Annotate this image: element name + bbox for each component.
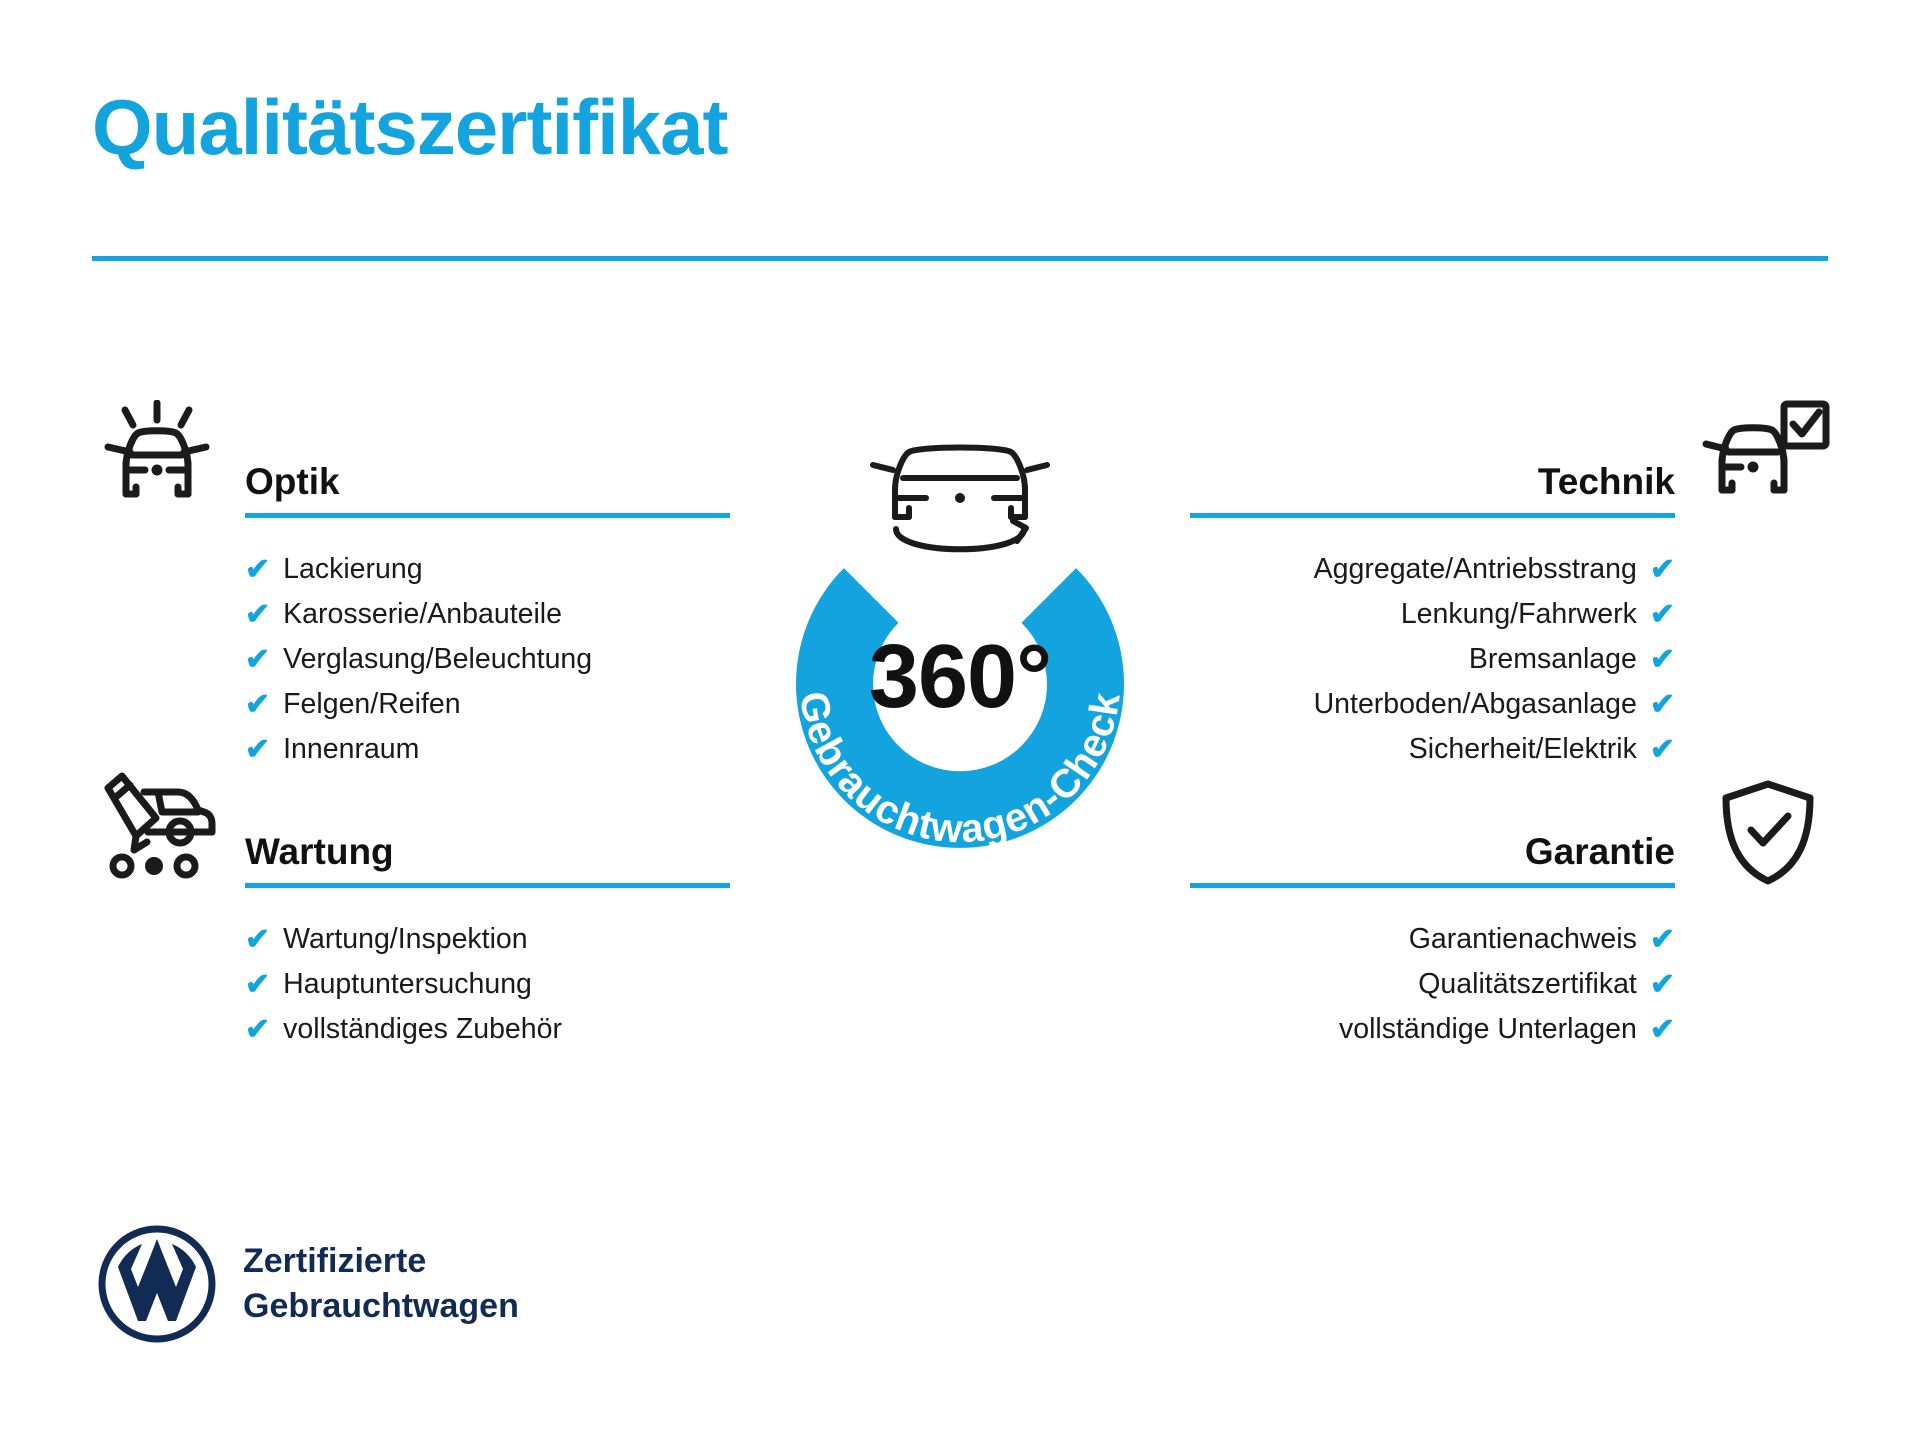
check-icon: ✔ <box>245 1007 270 1052</box>
list-item: ✔Lackierung <box>245 547 730 592</box>
list-item: ✔Innenraum <box>245 727 730 772</box>
list-item: Unterboden/Abgasanlage✔ <box>1190 682 1675 727</box>
check-icon: ✔ <box>245 637 270 682</box>
section-wartung: Wartung ✔Wartung/Inspektion ✔Hauptunters… <box>245 825 730 1052</box>
section-technik-divider <box>1190 513 1675 518</box>
list-item: Bremsanlage✔ <box>1190 637 1675 682</box>
check-icon: ✔ <box>1650 592 1675 637</box>
check-icon: ✔ <box>1650 637 1675 682</box>
check-icon: ✔ <box>1650 1007 1675 1052</box>
footer-line-2: Gebrauchtwagen <box>243 1284 519 1329</box>
footer-text: Zertifizierte Gebrauchtwagen <box>243 1239 519 1329</box>
list-item-label: Karosserie/Anbauteile <box>283 592 562 637</box>
list-item-label: Lenkung/Fahrwerk <box>1401 592 1637 637</box>
list-item-label: Unterboden/Abgasanlage <box>1314 682 1637 727</box>
section-wartung-list: ✔Wartung/Inspektion ✔Hauptuntersuchung ✔… <box>245 917 730 1052</box>
section-technik-title: Technik <box>1190 455 1675 509</box>
section-wartung-header: Wartung <box>245 825 730 895</box>
section-optik-list: ✔Lackierung ✔Karosserie/Anbauteile ✔Verg… <box>245 547 730 772</box>
check-icon: ✔ <box>1650 547 1675 592</box>
check-icon: ✔ <box>245 917 270 962</box>
list-item-label: Bremsanlage <box>1469 637 1637 682</box>
list-item-label: Aggregate/Antriebsstrang <box>1314 547 1637 592</box>
section-optik-divider <box>245 513 730 518</box>
footer: Zertifizierte Gebrauchtwagen <box>98 1225 519 1343</box>
section-wartung-title: Wartung <box>245 825 730 879</box>
section-garantie-header: Garantie <box>1190 825 1675 895</box>
list-item-label: Wartung/Inspektion <box>283 917 528 962</box>
section-technik: Technik Aggregate/Antriebsstrang✔ Lenkun… <box>1190 455 1675 772</box>
list-item-label: vollständige Unterlagen <box>1339 1007 1637 1052</box>
check-icon: ✔ <box>1650 917 1675 962</box>
section-garantie-title: Garantie <box>1190 825 1675 879</box>
vw-roundel-logo <box>98 1225 216 1343</box>
section-optik-title: Optik <box>245 455 730 509</box>
list-item: ✔Wartung/Inspektion <box>245 917 730 962</box>
list-item-label: Lackierung <box>283 547 422 592</box>
car-front-polish-icon <box>92 400 222 510</box>
list-item-label: Garantienachweis <box>1409 917 1637 962</box>
list-item: ✔Karosserie/Anbauteile <box>245 592 730 637</box>
section-technik-header: Technik <box>1190 455 1675 525</box>
section-wartung-divider <box>245 883 730 888</box>
check-icon: ✔ <box>245 592 270 637</box>
list-item-label: Qualitätszertifikat <box>1418 962 1637 1007</box>
check-icon: ✔ <box>245 682 270 727</box>
section-optik-header: Optik <box>245 455 730 525</box>
list-item: Lenkung/Fahrwerk✔ <box>1190 592 1675 637</box>
list-item: ✔vollständiges Zubehör <box>245 1007 730 1052</box>
certificate-page: Qualitätszertifikat <box>0 0 1920 1440</box>
title-divider <box>92 256 1828 261</box>
list-item: Aggregate/Antriebsstrang✔ <box>1190 547 1675 592</box>
car-front-checkbox-icon <box>1700 398 1830 508</box>
badge-360-gebrauchtwagen-check: Gebrauchtwagen-Check 360° <box>690 382 1230 942</box>
page-title: Qualitätszertifikat <box>92 88 728 166</box>
list-item-label: Verglasung/Beleuchtung <box>283 637 592 682</box>
list-item: Sicherheit/Elektrik✔ <box>1190 727 1675 772</box>
check-icon: ✔ <box>245 727 270 772</box>
list-item-label: Hauptuntersuchung <box>283 962 532 1007</box>
list-item-label: vollständiges Zubehör <box>283 1007 562 1052</box>
check-icon: ✔ <box>1650 962 1675 1007</box>
footer-line-1: Zertifizierte <box>243 1239 519 1284</box>
section-optik: Optik ✔Lackierung ✔Karosserie/Anbauteile… <box>245 455 730 772</box>
car-service-pencil-icon <box>92 770 222 880</box>
section-garantie-list: Garantienachweis✔ Qualitätszertifikat✔ v… <box>1190 917 1675 1052</box>
section-garantie: Garantie Garantienachweis✔ Qualitätszert… <box>1190 825 1675 1052</box>
check-icon: ✔ <box>1650 727 1675 772</box>
check-icon: ✔ <box>245 547 270 592</box>
list-item: Garantienachweis✔ <box>1190 917 1675 962</box>
list-item-label: Innenraum <box>283 727 419 772</box>
list-item: ✔Hauptuntersuchung <box>245 962 730 1007</box>
list-item: ✔Verglasung/Beleuchtung <box>245 637 730 682</box>
check-icon: ✔ <box>245 962 270 1007</box>
list-item: ✔Felgen/Reifen <box>245 682 730 727</box>
shield-check-icon <box>1718 780 1818 885</box>
check-icon: ✔ <box>1650 682 1675 727</box>
list-item: vollständige Unterlagen✔ <box>1190 1007 1675 1052</box>
list-item-label: Sicherheit/Elektrik <box>1409 727 1637 772</box>
list-item: Qualitätszertifikat✔ <box>1190 962 1675 1007</box>
section-technik-list: Aggregate/Antriebsstrang✔ Lenkung/Fahrwe… <box>1190 547 1675 772</box>
section-garantie-divider <box>1190 883 1675 888</box>
list-item-label: Felgen/Reifen <box>283 682 460 727</box>
